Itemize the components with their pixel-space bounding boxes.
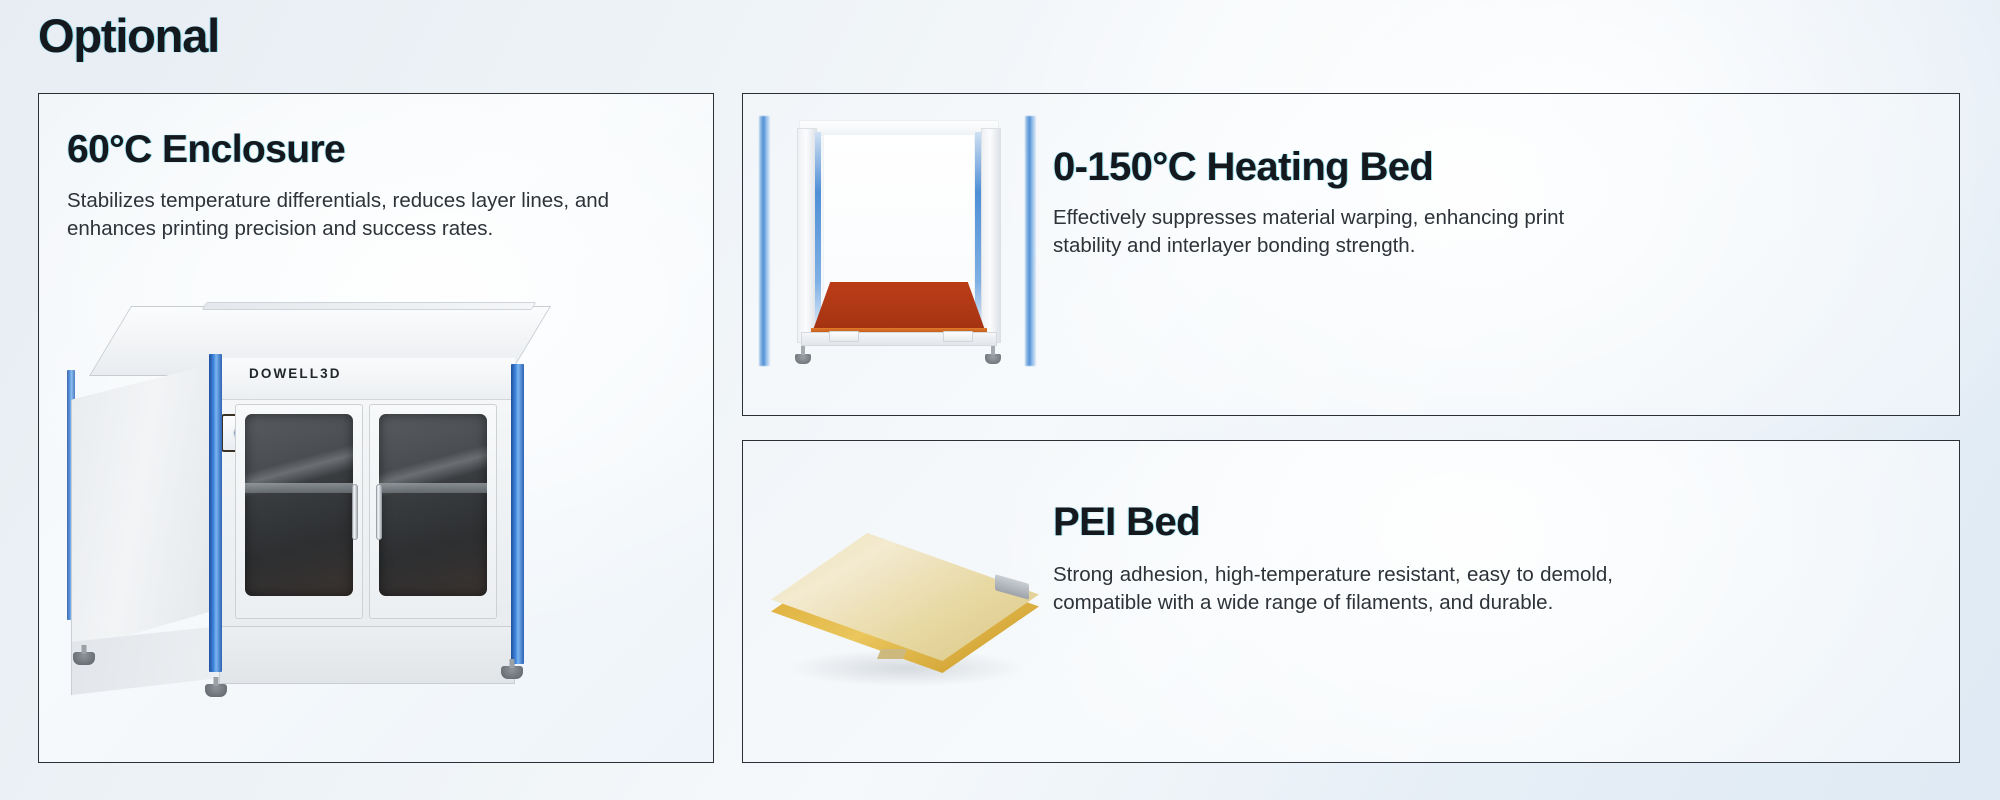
printer-post-accent-right: [975, 132, 981, 332]
pei-bed-title: PEI Bed: [1053, 501, 1613, 543]
door-handle-right: [376, 484, 382, 540]
page-title: Optional: [38, 8, 219, 63]
enclosure-image: DOWELL3D: [49, 254, 589, 744]
heating-bed-description: Effectively suppresses material warping,…: [1053, 204, 1613, 261]
interior-shelf: [379, 483, 487, 493]
heating-bed-text-block: 0-150°C Heating Bed Effectively suppress…: [1053, 146, 1613, 261]
enclosure-door-left: [235, 404, 363, 619]
enclosure-description: Stabilizes temperature differentials, re…: [67, 187, 667, 244]
enclosure-foot: [73, 652, 95, 665]
enclosure-door-right: [369, 404, 497, 619]
pei-bed-text-block: PEI Bed Strong adhesion, high-temperatur…: [1053, 501, 1613, 618]
optional-features-page: Optional 60°C Enclosure Stabilizes tempe…: [0, 0, 2000, 800]
interior-shelf: [245, 483, 353, 493]
enclosure-top-lip: [202, 302, 537, 310]
pei-sheet-surface: [771, 533, 1039, 661]
door-glass-left: [245, 414, 353, 596]
enclosure-side-panel: [71, 362, 221, 652]
enclosure-foot: [501, 666, 523, 679]
panel-enclosure: 60°C Enclosure Stabilizes temperature di…: [38, 93, 714, 763]
panel-pei-bed: PEI Bed Strong adhesion, high-temperatur…: [742, 440, 1960, 763]
printer-post-left: [797, 128, 817, 343]
pei-sheet-notch: [877, 649, 907, 659]
printer-foot: [985, 354, 1001, 364]
printer-post-right: [981, 128, 1001, 343]
frame-rail-left: [759, 116, 770, 366]
printer-foot: [795, 354, 811, 364]
printer-back-wall: [823, 134, 975, 294]
door-glass-right: [379, 414, 487, 596]
enclosure-post-left: [209, 354, 222, 672]
enclosure-title: 60°C Enclosure: [67, 130, 667, 171]
enclosure-front-base: [219, 626, 515, 684]
frame-rail-right: [1025, 116, 1036, 366]
heated-build-plate: [813, 282, 985, 330]
enclosure-post-right: [511, 364, 524, 664]
heating-bed-title: 0-150°C Heating Bed: [1053, 146, 1613, 188]
heating-bed-image: [753, 102, 1043, 402]
enclosure-brand-label: DOWELL3D: [249, 366, 342, 381]
panel-heating-bed: 0-150°C Heating Bed Effectively suppress…: [742, 93, 1960, 416]
bed-clip: [829, 331, 859, 342]
pei-bed-image: [763, 471, 1053, 721]
enclosure-foot: [205, 684, 227, 697]
bed-clip: [943, 331, 973, 342]
pei-bed-description: Strong adhesion, high-temperature resist…: [1053, 561, 1613, 618]
enclosure-text-block: 60°C Enclosure Stabilizes temperature di…: [67, 130, 667, 244]
door-handle-left: [352, 484, 358, 540]
printer-post-accent-left: [815, 132, 821, 332]
